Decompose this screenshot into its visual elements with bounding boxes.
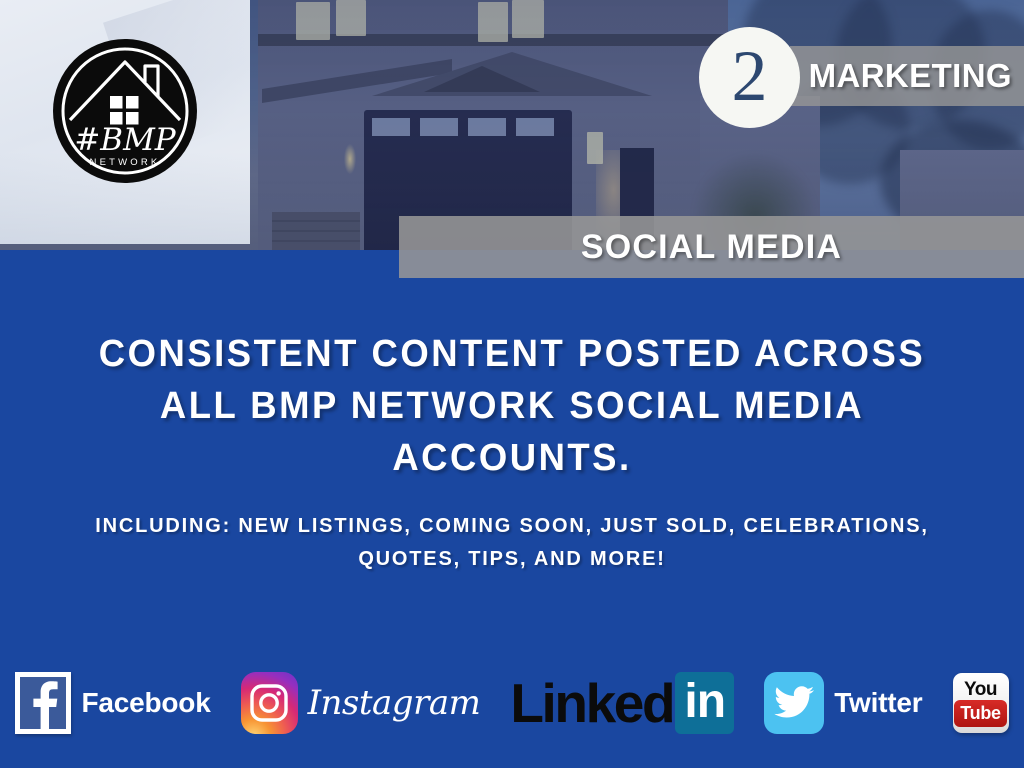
social-item-facebook[interactable]: Facebook xyxy=(15,672,210,734)
youtube-tube-text: Tube xyxy=(954,700,1006,727)
social-platform-row: Facebook Instagram Linked in xyxy=(0,655,1024,751)
twitter-label: Twitter xyxy=(834,687,922,719)
marketing-slide: #BMP NETWORK MARKETING 2 SOCIAL MEDIA CO… xyxy=(0,0,1024,768)
social-item-instagram[interactable]: Instagram xyxy=(241,672,481,734)
bmp-network-logo: #BMP NETWORK xyxy=(52,38,198,184)
svg-text:NETWORK: NETWORK xyxy=(90,157,161,168)
headline-text: CONSISTENT CONTENT POSTED ACROSS ALL BMP… xyxy=(70,328,953,484)
facebook-icon[interactable] xyxy=(15,672,71,734)
topic-banner: SOCIAL MEDIA xyxy=(399,216,1024,278)
social-item-twitter[interactable]: Twitter xyxy=(764,672,922,734)
section-label: MARKETING xyxy=(809,57,1012,95)
facebook-label: Facebook xyxy=(81,687,210,719)
linkedin-label: Linked xyxy=(510,676,673,731)
topic-label: SOCIAL MEDIA xyxy=(581,228,842,267)
twitter-icon[interactable] xyxy=(764,672,824,734)
social-item-youtube[interactable]: You Tube xyxy=(953,673,1009,733)
instagram-icon[interactable] xyxy=(241,672,298,734)
youtube-icon[interactable]: You Tube xyxy=(953,673,1009,733)
instagram-label: Instagram xyxy=(308,683,481,723)
section-banner: MARKETING xyxy=(790,46,1024,106)
linkedin-icon[interactable]: in xyxy=(675,672,734,734)
linkedin-badge-text: in xyxy=(684,678,725,726)
step-number: 2 xyxy=(732,40,768,112)
subcopy-text: INCLUDING: NEW LISTINGS, COMING SOON, JU… xyxy=(52,510,972,576)
svg-text:#BMP: #BMP xyxy=(74,122,176,158)
youtube-you-text: You xyxy=(964,680,997,699)
social-item-linkedin[interactable]: Linked in xyxy=(510,672,734,734)
step-number-badge: 2 xyxy=(699,27,800,128)
